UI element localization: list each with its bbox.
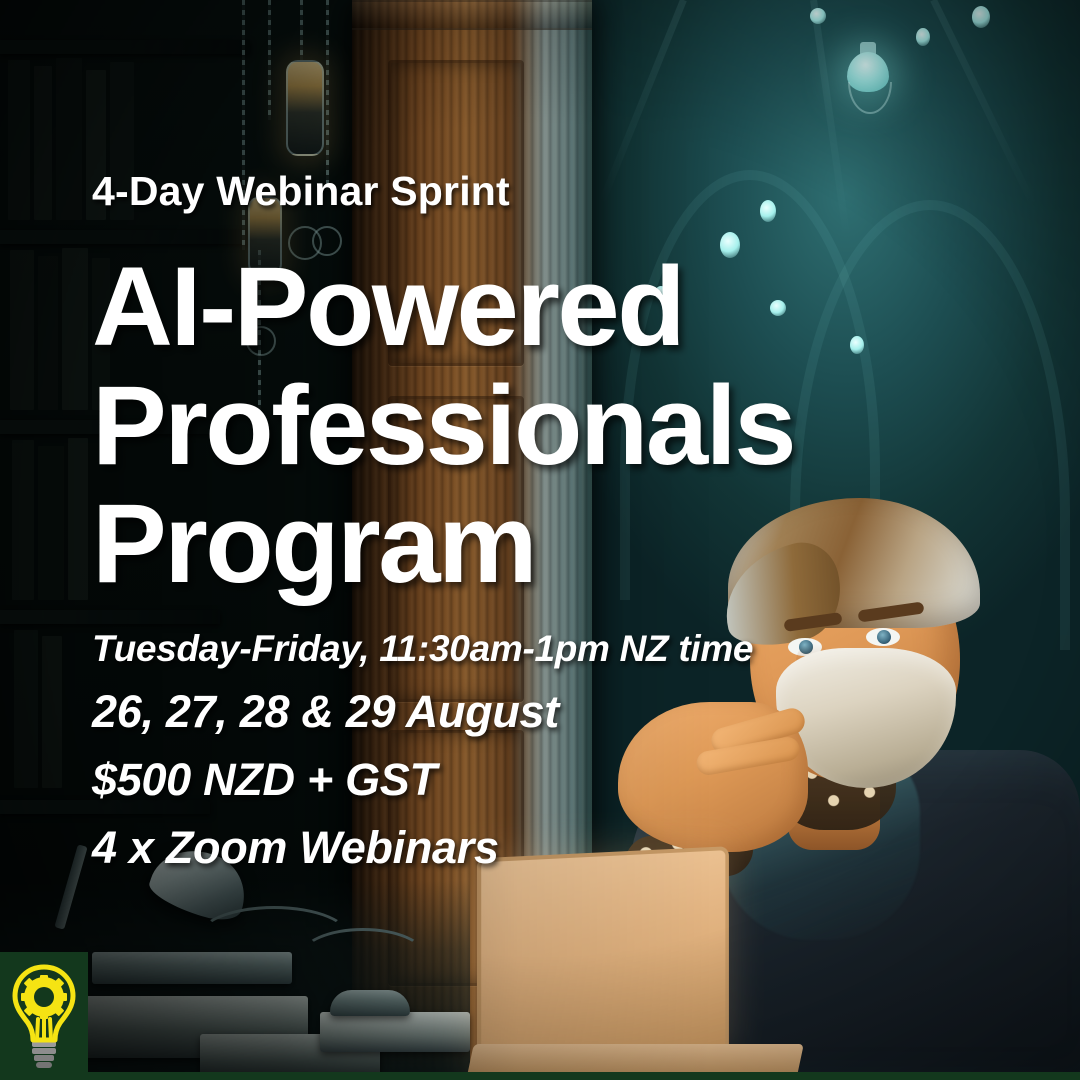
promo-poster: 4-Day Webinar Sprint AI-Powered Professi… bbox=[0, 0, 1080, 1080]
bulb-filament bbox=[37, 1019, 51, 1039]
book bbox=[34, 66, 52, 220]
book bbox=[38, 446, 64, 600]
page-title: AI-Powered Professionals Program bbox=[92, 248, 794, 604]
detail-schedule: Tuesday-Friday, 11:30am-1pm NZ time bbox=[92, 628, 753, 670]
book bbox=[12, 440, 34, 600]
book bbox=[56, 58, 82, 220]
book bbox=[68, 438, 88, 600]
light-orb bbox=[972, 6, 990, 28]
detail-price: $500 NZD + GST bbox=[92, 754, 753, 806]
bottom-accent-strip bbox=[0, 1072, 1080, 1080]
headline-line-3: Program bbox=[92, 485, 794, 604]
book bbox=[14, 630, 38, 788]
gear-icon bbox=[21, 975, 67, 1019]
book bbox=[62, 248, 88, 410]
book bbox=[8, 60, 30, 220]
detail-list: Tuesday-Friday, 11:30am-1pm NZ time 26, … bbox=[92, 628, 753, 890]
headline-line-2: Professionals bbox=[92, 367, 794, 486]
logo-badge bbox=[0, 952, 88, 1080]
bulb-base bbox=[32, 1041, 56, 1068]
lightbulb-gear-icon bbox=[7, 961, 81, 1071]
book bbox=[38, 256, 58, 410]
eyebrow-text: 4-Day Webinar Sprint bbox=[92, 168, 510, 215]
poster-text-content: 4-Day Webinar Sprint AI-Powered Professi… bbox=[92, 0, 952, 1080]
headline-line-1: AI-Powered bbox=[92, 248, 794, 367]
book bbox=[42, 636, 62, 788]
book bbox=[10, 250, 34, 410]
detail-format: 4 x Zoom Webinars bbox=[92, 822, 753, 874]
detail-dates: 26, 27, 28 & 29 August bbox=[92, 686, 753, 738]
